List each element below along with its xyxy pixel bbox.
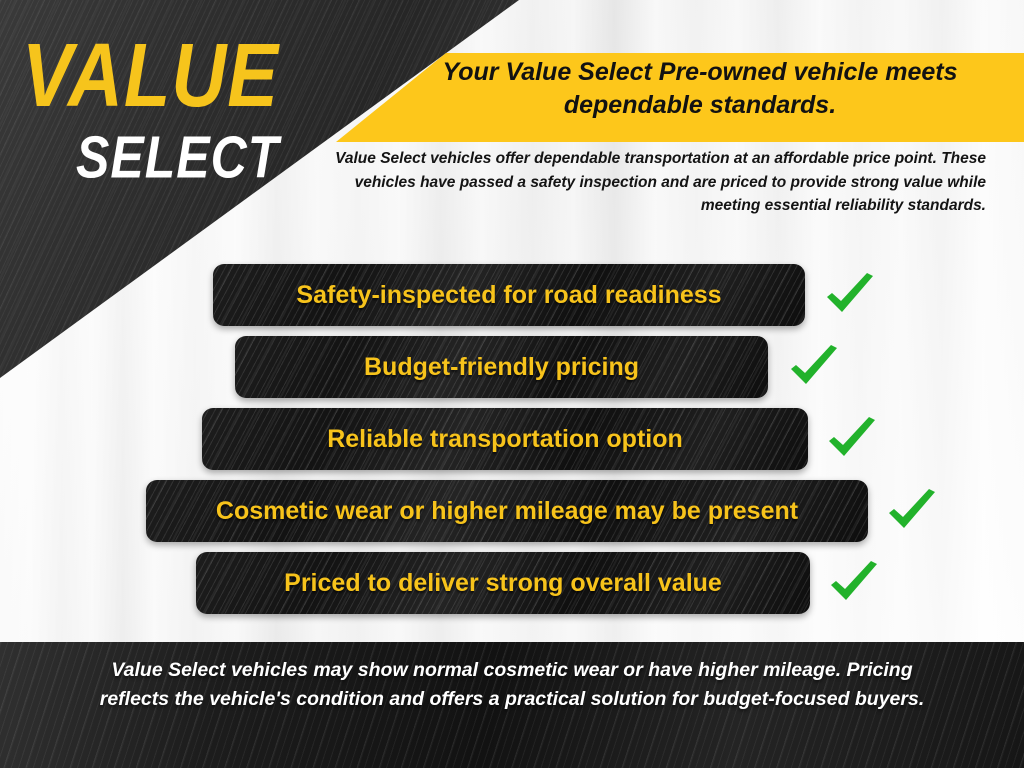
brand-logo-value: VALUE [0, 34, 360, 119]
check-icon [824, 414, 880, 466]
check-icon [826, 558, 882, 610]
feature-item: Priced to deliver strong overall value [0, 552, 1024, 614]
feature-item: Cosmetic wear or higher mileage may be p… [0, 480, 1024, 542]
feature-bar: Budget-friendly pricing [235, 336, 768, 398]
brand-logo: VALUE SELECT [0, 34, 360, 178]
feature-bar: Safety-inspected for road readiness [213, 264, 805, 326]
feature-bar: Cosmetic wear or higher mileage may be p… [146, 480, 868, 542]
intro-paragraph: Value Select vehicles offer dependable t… [326, 147, 986, 218]
footer-band: Value Select vehicles may show normal co… [0, 642, 1024, 768]
value-select-poster: VALUE SELECT Your Value Select Pre-owned… [0, 0, 1024, 768]
feature-item: Budget-friendly pricing [0, 336, 1024, 398]
feature-label: Budget-friendly pricing [350, 353, 653, 382]
check-icon [822, 270, 878, 322]
headline-text: Your Value Select Pre-owned vehicle meet… [390, 56, 1010, 122]
feature-label: Cosmetic wear or higher mileage may be p… [202, 497, 812, 526]
feature-label: Reliable transportation option [313, 425, 697, 454]
feature-bar: Priced to deliver strong overall value [196, 552, 810, 614]
feature-bar: Reliable transportation option [202, 408, 808, 470]
feature-label: Priced to deliver strong overall value [270, 569, 736, 598]
feature-item: Safety-inspected for road readiness [0, 264, 1024, 326]
check-icon [884, 486, 940, 538]
feature-item: Reliable transportation option [0, 408, 1024, 470]
brand-logo-select: SELECT [0, 128, 360, 187]
footer-text: Value Select vehicles may show normal co… [90, 656, 934, 715]
feature-label: Safety-inspected for road readiness [282, 281, 735, 310]
check-icon [786, 342, 842, 394]
